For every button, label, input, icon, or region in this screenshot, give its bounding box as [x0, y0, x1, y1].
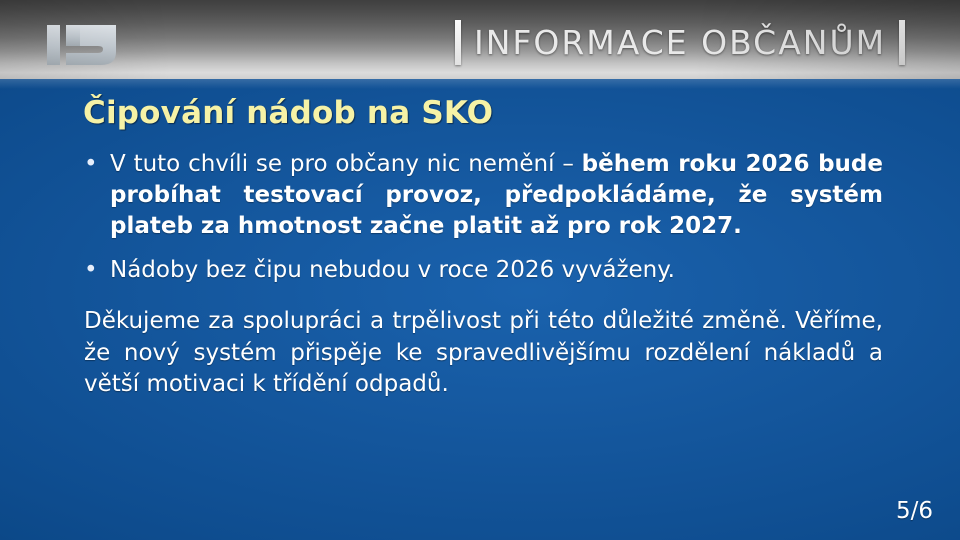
- bullet-marker-icon: •: [78, 149, 110, 180]
- page-number: 5/6: [896, 498, 933, 524]
- banner-left-divider-icon: [455, 20, 461, 65]
- banner-title-text: INFORMACE OBČANŮM: [474, 26, 886, 59]
- presentation-slide: INFORMACE OBČANŮM Čipování nádob na SKO …: [0, 0, 960, 540]
- list-item: • Nádoby bez čipu nebudou v roce 2026 vy…: [78, 255, 883, 286]
- list-item-text: V tuto chvíli se pro občany nic nemění –…: [110, 149, 883, 242]
- slide-header-banner: INFORMACE OBČANŮM: [0, 0, 960, 79]
- list-item: • V tuto chvíli se pro občany nic nemění…: [78, 149, 883, 242]
- banner-right-divider-icon: [899, 20, 905, 65]
- page-title: Čipování nádob na SKO: [83, 95, 493, 131]
- list-item-text: Nádoby bez čipu nebudou v roce 2026 vyvá…: [110, 255, 883, 286]
- is-logo-icon: [46, 22, 130, 68]
- list-item-text-normal: V tuto chvíli se pro občany nic nemění –: [110, 151, 582, 177]
- slide-content: • V tuto chvíli se pro občany nic nemění…: [78, 149, 883, 401]
- bullet-marker-icon: •: [78, 255, 110, 286]
- list-item-text-normal: Nádoby bez čipu nebudou v roce 2026 vyvá…: [110, 257, 675, 283]
- closing-paragraph: Děkujeme za spolupráci a trpělivost při …: [78, 306, 883, 401]
- banner-title: INFORMACE OBČANŮM: [455, 17, 905, 67]
- slide-body: Čipování nádob na SKO • V tuto chvíli se…: [0, 79, 960, 540]
